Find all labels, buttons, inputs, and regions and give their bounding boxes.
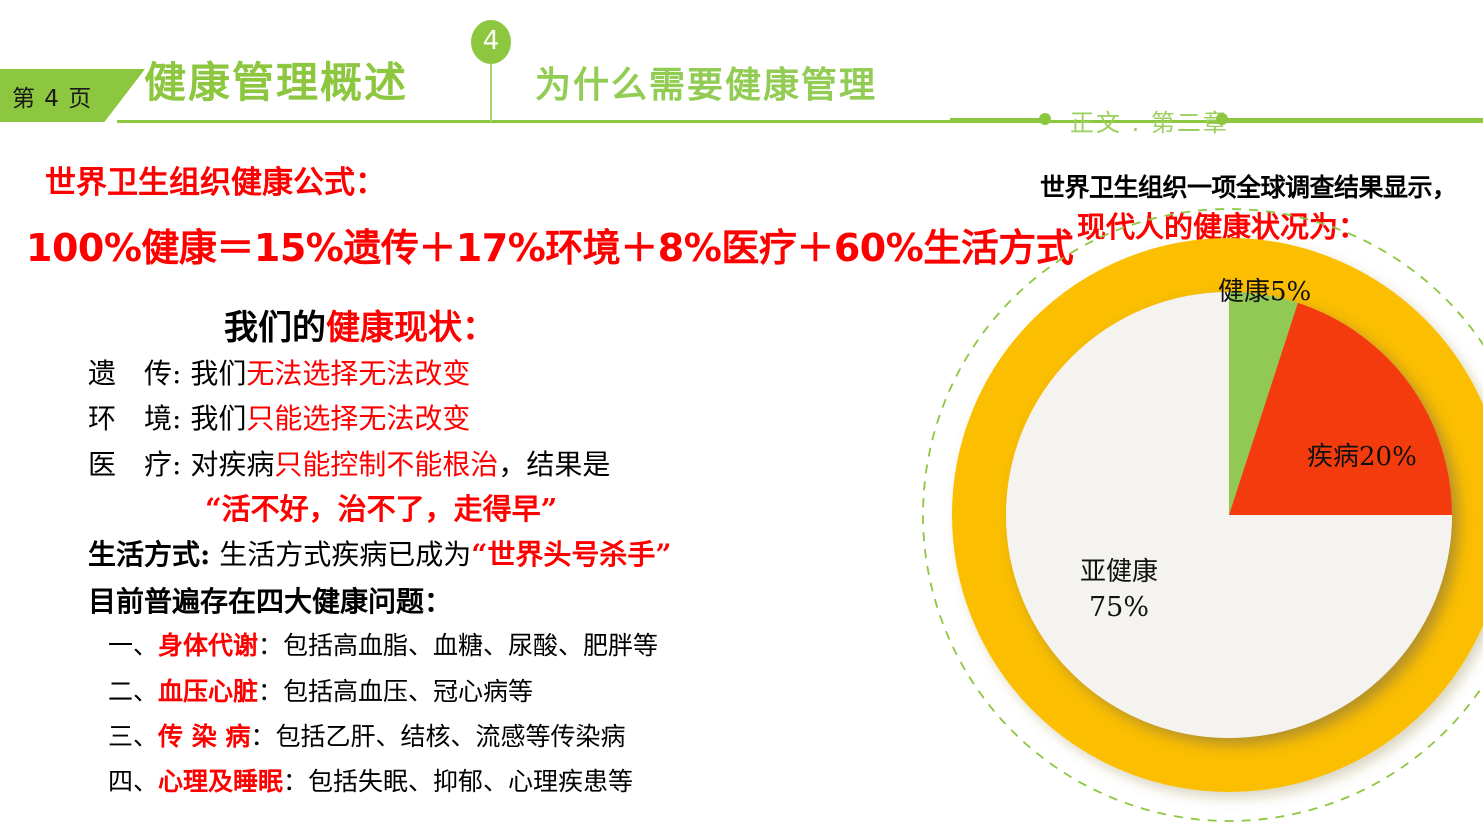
problem-item-2-desc: ：包括高血压、冠心病等: [258, 677, 533, 706]
status-row-medical-highlight: 只能控制不能根治: [274, 448, 498, 481]
status-row-lifestyle-text: 生活方式疾病已成为: [210, 538, 471, 571]
status-row-medical-term: 医 疗: [88, 448, 172, 481]
status-row-genetics-highlight: 无法选择无法改变: [246, 357, 470, 390]
health-status-heading-plain: 我们的: [224, 308, 326, 348]
slide-header: 第 4 页 健康管理概述 4 为什么需要健康管理 正文 . 第二章: [0, 0, 1483, 130]
chapter-dot-left-icon: [1039, 113, 1051, 125]
problem-item-1: 一、身体代谢：包括高血脂、血糖、尿酸、肥胖等: [108, 633, 658, 658]
status-row-medical-sep: : 对疾病: [172, 448, 274, 481]
pie-label-subhealth: 亚健康 75%: [1080, 558, 1158, 623]
section-number-label: 4: [483, 28, 500, 56]
slide-root: 第 4 页 健康管理概述 4 为什么需要健康管理 正文 . 第二章 世界卫生组织…: [0, 0, 1483, 835]
status-quote-line: “活不好，治不了，走得早”: [205, 495, 557, 524]
pie-label-disease: 疾病20%: [1307, 443, 1417, 473]
status-row-lifestyle: 生活方式: 生活方式疾病已成为“世界头号杀手”: [88, 541, 671, 569]
chapter-rule-left: [950, 118, 1042, 120]
pie-label-subhealth-name: 亚健康: [1080, 557, 1158, 587]
problem-item-1-desc: ：包括高血脂、血糖、尿酸、肥胖等: [258, 631, 658, 660]
problem-item-2-name: 血压心脏: [158, 677, 258, 706]
page-number-badge: 第 4 页: [0, 69, 145, 122]
problem-item-3-desc: ：包括乙肝、结核、流感等传染病: [250, 722, 625, 751]
problem-item-1-index: 一、: [108, 631, 158, 660]
status-row-medical: 医 疗: 对疾病只能控制不能根治，结果是: [88, 451, 610, 479]
pie-label-health: 健康5%: [1218, 278, 1311, 308]
page-subtitle: 为什么需要健康管理: [535, 68, 877, 104]
problem-item-4-name: 心理及睡眠: [158, 767, 283, 796]
chapter-label: 正文 . 第二章: [1070, 103, 1229, 138]
problem-item-1-name: 身体代谢: [158, 631, 258, 660]
health-status-heading-highlight: 健康现状：: [326, 308, 496, 348]
problems-heading: 目前普遍存在四大健康问题：: [88, 588, 452, 616]
problem-item-4-index: 四、: [108, 767, 158, 796]
pie-chart-panel: 世界卫生组织一项全球调查结果显示， 现代人的健康状况为：: [890, 160, 1483, 835]
who-formula-label: 世界卫生组织健康公式：: [45, 157, 386, 202]
chapter-rule-right: [1226, 118, 1483, 120]
pie-label-subhealth-pct: 75%: [1080, 592, 1158, 623]
problem-item-2: 二、血压心脏：包括高血压、冠心病等: [108, 679, 533, 704]
pie-chart-svg: [890, 160, 1483, 835]
problem-item-4-desc: ：包括失眠、抑郁、心理疾患等: [283, 767, 633, 796]
status-row-environment: 环 境: 我们只能选择无法改变: [88, 405, 470, 433]
health-status-heading: 我们的健康现状：: [224, 300, 496, 349]
status-row-genetics: 遗 传: 我们无法选择无法改变: [88, 360, 470, 388]
chapter-breadcrumb: 正文 . 第二章: [950, 100, 1483, 130]
page-title: 健康管理概述: [144, 62, 408, 104]
problem-item-4: 四、心理及睡眠：包括失眠、抑郁、心理疾患等: [108, 769, 633, 794]
problem-item-3-name: 传 染 病: [158, 722, 250, 751]
problem-item-2-index: 二、: [108, 677, 158, 706]
status-row-genetics-sep: : 我们: [172, 357, 246, 390]
status-row-lifestyle-quote: “世界头号杀手”: [471, 538, 671, 571]
pie-slices: [1006, 292, 1452, 738]
section-number-badge: 4: [471, 20, 511, 64]
status-row-medical-tail: ，结果是: [498, 448, 610, 481]
status-quote-text: “活不好，治不了，走得早”: [205, 492, 557, 526]
status-row-environment-sep: : 我们: [172, 402, 246, 435]
status-row-environment-highlight: 只能选择无法改变: [246, 402, 470, 435]
status-row-lifestyle-term: 生活方式:: [88, 538, 210, 571]
page-number-label: 第 4 页: [0, 79, 92, 113]
status-row-genetics-term: 遗 传: [88, 357, 172, 390]
problem-item-3: 三、传 染 病：包括乙肝、结核、流感等传染病: [108, 724, 625, 749]
problem-item-3-index: 三、: [108, 722, 158, 751]
status-row-environment-term: 环 境: [88, 402, 172, 435]
